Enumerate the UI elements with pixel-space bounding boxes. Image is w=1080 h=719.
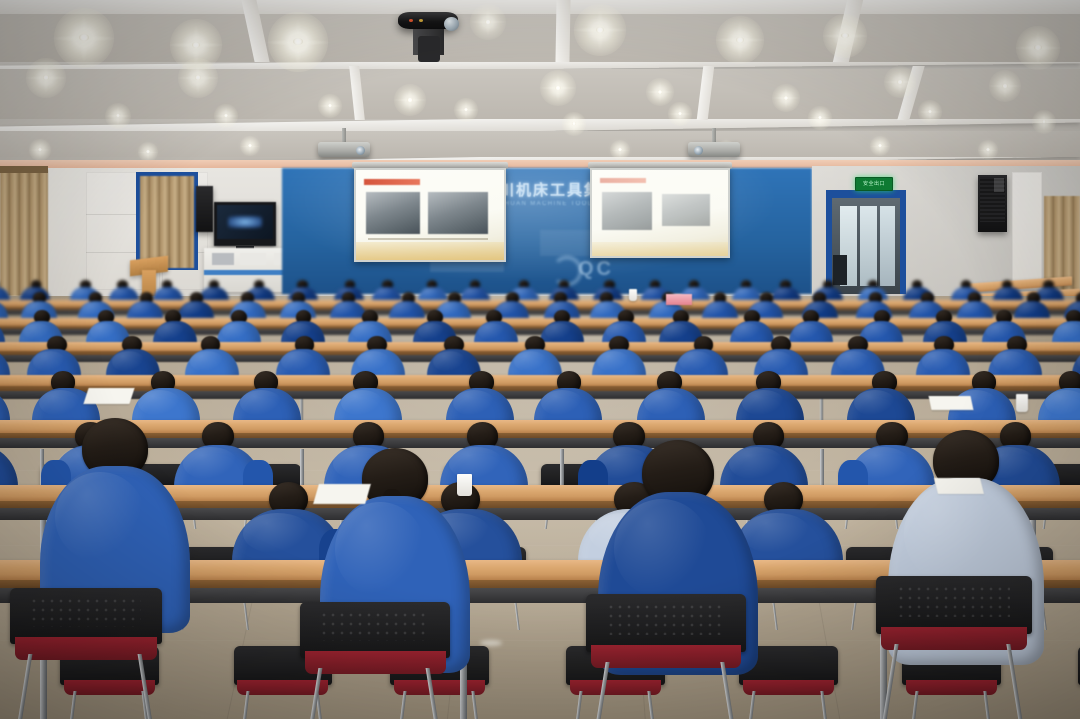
- chair: [10, 588, 162, 719]
- paper-sheet-left-2: [83, 388, 134, 404]
- front-row-chairs: [0, 0, 1080, 719]
- paper-cup-back: [629, 289, 637, 301]
- chair-leg-left: [16, 654, 33, 719]
- chair-backrest-perforation: [321, 612, 429, 641]
- paper-sheet-right: [934, 478, 984, 494]
- chair-backrest-perforation: [608, 604, 723, 634]
- paper-sheet-mid: [929, 396, 974, 410]
- chair-backrest-perforation: [31, 598, 140, 627]
- chair-leg-right: [426, 668, 443, 719]
- chair: [876, 576, 1032, 719]
- paper-sheet-left: [313, 484, 371, 504]
- chair-backrest-perforation: [898, 586, 1010, 616]
- chair-leg-left: [882, 644, 899, 719]
- attendee-seating-area: [0, 0, 1080, 719]
- paper-cup-front: [457, 474, 472, 496]
- chair-seat-rim: [15, 637, 158, 659]
- chair-seat-rim: [881, 627, 1028, 650]
- chair-leg-right: [720, 662, 737, 719]
- chair-seat-rim: [591, 645, 741, 668]
- chair: [586, 594, 746, 719]
- chair-leg-right: [1007, 644, 1024, 719]
- conference-room-photo: 秦川机床工具集 QINCHUAN MACHINE TOOLS QC: [0, 0, 1080, 719]
- table-placard: [666, 294, 692, 305]
- chair-leg-right: [137, 654, 154, 719]
- chair-leg-left: [306, 668, 323, 719]
- paper-cup-mid: [1016, 394, 1028, 412]
- chair: [300, 602, 450, 719]
- chair-seat-rim: [305, 651, 446, 673]
- chair-leg-left: [592, 662, 609, 719]
